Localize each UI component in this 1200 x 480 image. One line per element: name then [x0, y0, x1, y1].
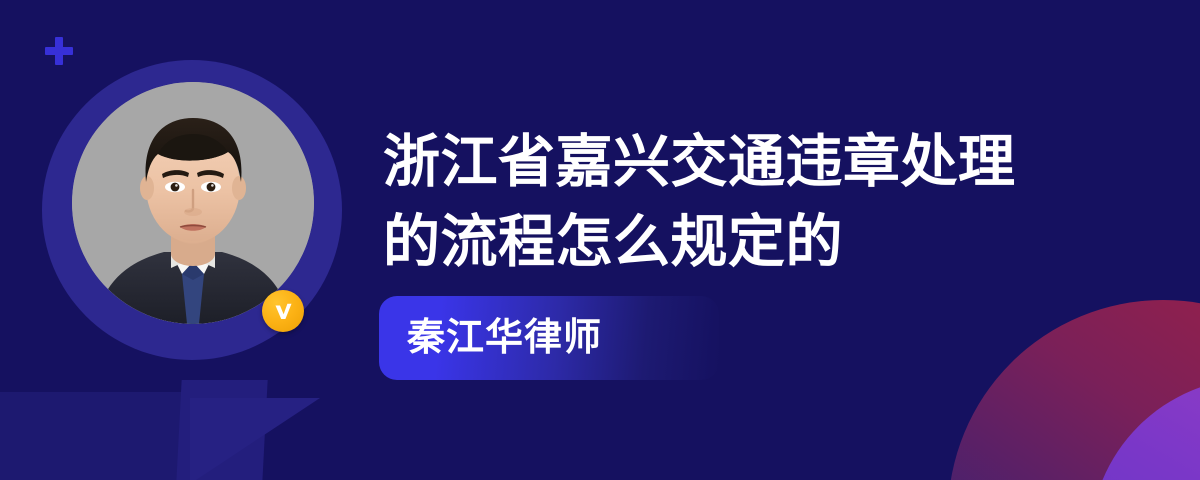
avatar[interactable] — [42, 60, 342, 360]
page-title: 浙江省嘉兴交通违章处理 的流程怎么规定的 — [383, 122, 1083, 282]
avatar-photo — [72, 82, 314, 324]
verified-badge-icon — [262, 290, 304, 332]
promo-banner: 浙江省嘉兴交通违章处理 的流程怎么规定的 秦江华律师 — [0, 0, 1200, 480]
author-name-badge[interactable]: 秦江华律师 — [379, 296, 719, 380]
author-name-label: 秦江华律师 — [379, 319, 602, 357]
decor-angled-panel-center — [174, 380, 267, 480]
decor-triangle-shape — [190, 398, 320, 480]
decor-angled-panel-left — [0, 392, 261, 480]
decor-circle-maroon — [948, 300, 1200, 480]
decor-circle-purple — [1090, 378, 1200, 480]
